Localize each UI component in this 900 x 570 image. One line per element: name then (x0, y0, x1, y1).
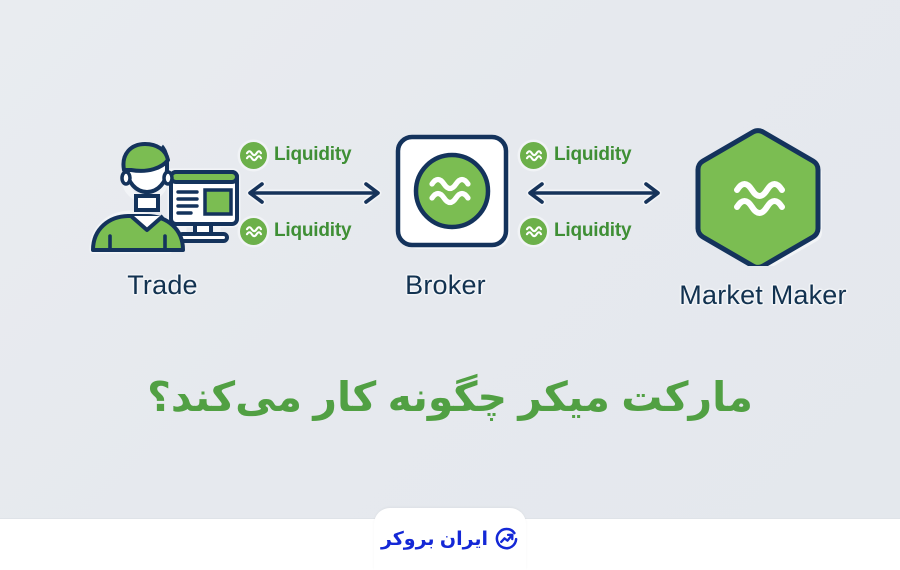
footer-bar: ایران بروکر (0, 518, 900, 570)
brand-logo-text: ایران بروکر (381, 528, 488, 551)
headline-title: مارکت میکر چگونه کار می‌کند؟ (0, 372, 900, 423)
diagram-node-trade: Trade (75, 138, 250, 301)
diagram-node-market-maker: Market Maker (638, 126, 888, 311)
double-headed-arrow (520, 178, 670, 208)
trader-with-monitor-icon (75, 138, 250, 256)
liquidity-label: Liquidity (274, 144, 351, 166)
connector-trade-broker: Liquidity (240, 140, 390, 270)
double-headed-arrow (240, 178, 390, 208)
chart-arrow-circle-icon (494, 527, 519, 552)
infographic-canvas: Trade Broker (0, 0, 900, 570)
market-maker-hexagon-icon (638, 126, 888, 266)
connector-broker-market-maker: Liquidity (520, 140, 670, 270)
diagram-node-label: Market Maker (638, 280, 888, 311)
liquidity-badge: Liquidity (240, 216, 390, 246)
liquidity-badge: Liquidity (520, 140, 670, 170)
liquidity-wave-icon (520, 142, 547, 169)
brand-logo[interactable]: ایران بروکر (374, 508, 526, 570)
diagram-node-label: Broker (358, 270, 533, 301)
liquidity-wave-icon (240, 218, 267, 245)
liquidity-badge: Liquidity (240, 140, 390, 170)
liquidity-label: Liquidity (554, 144, 631, 166)
liquidity-wave-icon (240, 142, 267, 169)
liquidity-badge: Liquidity (520, 216, 670, 246)
diagram-node-label: Trade (75, 270, 250, 301)
liquidity-wave-icon (520, 218, 547, 245)
flow-diagram: Trade Broker (0, 120, 900, 320)
liquidity-label: Liquidity (274, 220, 351, 242)
liquidity-label: Liquidity (554, 220, 631, 242)
